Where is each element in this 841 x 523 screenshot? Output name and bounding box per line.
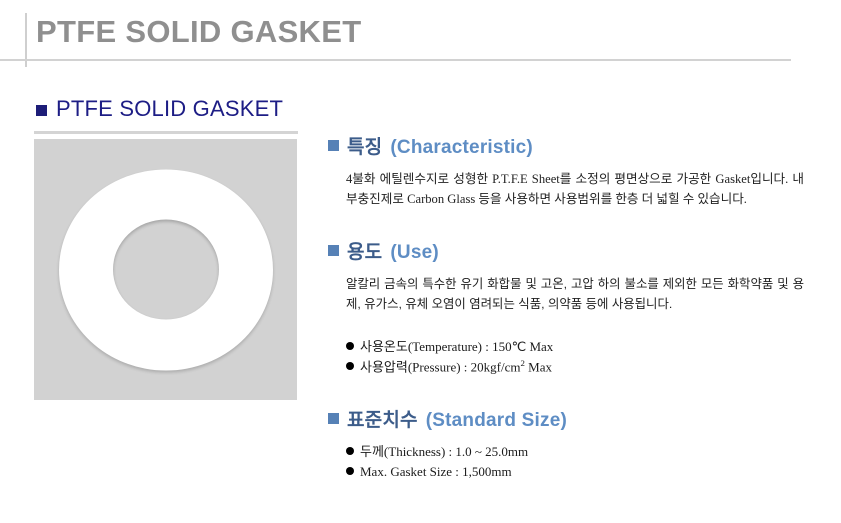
gasket-center-hole <box>113 220 219 320</box>
section-use-title-en: (Use) <box>390 242 439 264</box>
section-use-spec-list: 사용온도(Temperature) : 150℃ Max 사용압력(Pressu… <box>346 337 828 378</box>
section-standard-size-spec-list: 두께(Thickness) : 1.0 ~ 25.0mm Max. Gasket… <box>346 442 828 482</box>
product-sub-heading-label: PTFE SOLID GASKET <box>56 96 283 122</box>
spacer <box>328 315 828 337</box>
spacer <box>328 210 828 237</box>
section-standard-size-title-en: (Standard Size) <box>426 410 567 432</box>
section-characteristic: 특징 (Characteristic) 4불화 에틸렌수지로 성형한 P.T.F… <box>328 132 828 210</box>
round-bullet-icon <box>346 342 354 350</box>
content-column: 특징 (Characteristic) 4불화 에틸렌수지로 성형한 P.T.F… <box>328 132 828 482</box>
page-header: PTFE SOLID GASKET <box>0 0 841 70</box>
square-bullet-icon <box>328 245 339 256</box>
page-title: PTFE SOLID GASKET <box>36 14 361 50</box>
section-use-title-ko: 용도 <box>347 237 382 264</box>
spacer <box>328 378 828 405</box>
list-item: 사용압력(Pressure) : 20kgf/cm2 Max <box>346 357 828 377</box>
gasket-ring-shape <box>59 169 273 370</box>
spec-thickness: 두께(Thickness) : 1.0 ~ 25.0mm <box>360 442 528 462</box>
section-characteristic-heading: 특징 (Characteristic) <box>328 132 828 159</box>
round-bullet-icon <box>346 362 354 370</box>
section-use-body: 알칼리 금속의 특수한 유기 화합물 및 고온, 고압 하의 불소를 제외한 모… <box>346 274 804 315</box>
round-bullet-icon <box>346 447 354 455</box>
sub-heading-divider-line <box>34 131 298 134</box>
section-standard-size-title-ko: 표준치수 <box>347 405 418 432</box>
section-use: 용도 (Use) 알칼리 금속의 특수한 유기 화합물 및 고온, 고압 하의 … <box>328 237 828 378</box>
product-sub-heading: PTFE SOLID GASKET <box>36 96 283 122</box>
square-bullet-icon <box>328 413 339 424</box>
product-image <box>34 139 297 400</box>
spec-pressure: 사용압력(Pressure) : 20kgf/cm2 Max <box>360 357 552 377</box>
list-item: 두께(Thickness) : 1.0 ~ 25.0mm <box>346 442 828 462</box>
square-bullet-icon <box>36 105 47 116</box>
section-characteristic-title-ko: 특징 <box>347 132 382 159</box>
section-standard-size: 표준치수 (Standard Size) 두께(Thickness) : 1.0… <box>328 405 828 482</box>
round-bullet-icon <box>346 467 354 475</box>
square-bullet-icon <box>328 140 339 151</box>
section-characteristic-body: 4불화 에틸렌수지로 성형한 P.T.F.E Sheet를 소정의 평면상으로 … <box>346 169 804 210</box>
list-item: Max. Gasket Size : 1,500mm <box>346 462 828 482</box>
section-standard-size-heading: 표준치수 (Standard Size) <box>328 405 828 432</box>
section-use-heading: 용도 (Use) <box>328 237 828 264</box>
header-divider-line <box>0 59 791 61</box>
section-characteristic-title-en: (Characteristic) <box>390 137 533 159</box>
spec-temperature: 사용온도(Temperature) : 150℃ Max <box>360 337 553 357</box>
spec-max-gasket-size: Max. Gasket Size : 1,500mm <box>360 462 512 482</box>
list-item: 사용온도(Temperature) : 150℃ Max <box>346 337 828 357</box>
